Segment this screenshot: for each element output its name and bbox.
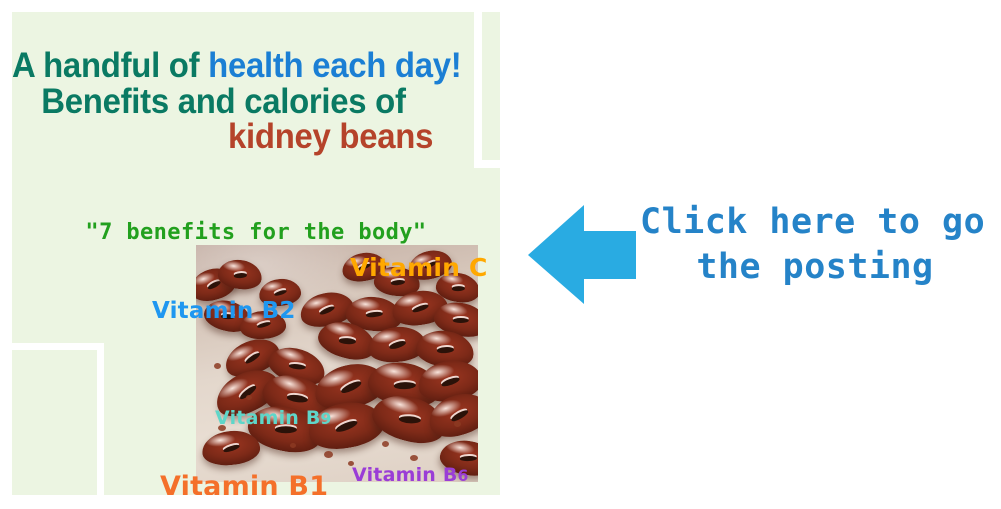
banner-screenshot: A handful of health each day! Benefits a… [0, 0, 1001, 509]
corner-frame-bottom-left-vertical [97, 343, 104, 495]
headline-line-2: Benefits and calories of [12, 84, 435, 120]
bean-crumb [454, 421, 461, 427]
corner-frame-bottom-left-horizontal [12, 343, 104, 350]
corner-frame-top-right-horizontal [474, 160, 500, 168]
vitamin-b2-label: Vitamin B2 [152, 298, 296, 324]
corner-frame-top-right-vertical [474, 12, 482, 168]
banner-card-link[interactable]: A handful of health each day! Benefits a… [12, 12, 500, 495]
vitamin-b9-prefix: Vitamin B [215, 407, 321, 429]
vitamin-b6-label: Vitamin B6 [352, 464, 469, 486]
cta-line-2: the posting [640, 245, 990, 290]
vitamin-c-label: Vitamin C [350, 253, 488, 282]
vitamin-b6-prefix: Vitamin B [352, 464, 458, 486]
bean-crumb [410, 455, 418, 461]
vitamin-b1-label: Vitamin B1 [160, 471, 328, 495]
bean-crumb [324, 451, 333, 458]
arrow-left-icon [528, 205, 636, 304]
banner-subtitle: "7 benefits for the body" [12, 220, 500, 245]
vitamin-b9-subscript: 9 [321, 410, 332, 428]
headline-line-1-blue: health each day! [208, 46, 461, 85]
banner-headline: A handful of health each day! Benefits a… [12, 48, 435, 155]
vitamin-b9-label: Vitamin B9 [215, 407, 332, 429]
bean-crumb [382, 441, 389, 447]
cta-instruction-text: Click here to go to the posting [640, 200, 990, 290]
headline-line-1: A handful of health each day! [12, 48, 435, 84]
bean-crumb [214, 363, 221, 369]
headline-line-1-teal: A handful of [12, 46, 208, 85]
bean-crumb [290, 443, 296, 448]
cta-line-1: Click here to go to [640, 200, 990, 245]
bean-crumb [246, 395, 252, 400]
headline-line-3: kidney beans [12, 119, 435, 155]
vitamin-b6-subscript: 6 [458, 467, 469, 485]
